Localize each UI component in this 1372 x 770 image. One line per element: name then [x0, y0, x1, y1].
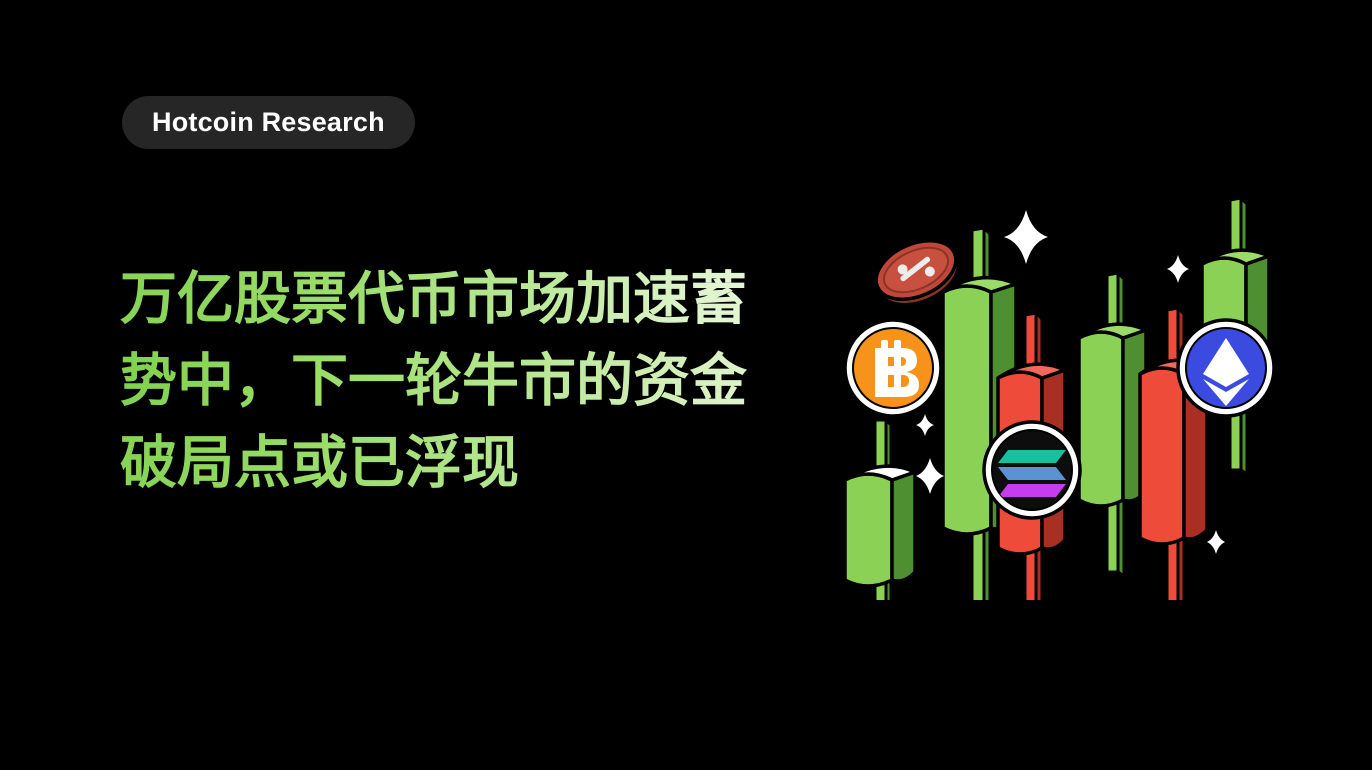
sparkle-small-right — [1167, 255, 1189, 283]
title-line-3: 破局点或已浮现 — [120, 422, 820, 504]
crypto-candlestick-illustration — [820, 180, 1290, 600]
page-title: 万亿股票代币市场加速蓄 势中，下一轮牛市的资金 破局点或已浮现 — [120, 258, 820, 504]
candle-1-up — [845, 420, 915, 600]
ethereum-coin-icon — [1178, 320, 1274, 416]
solana-coin-icon — [984, 422, 1080, 518]
brand-badge-label: Hotcoin Research — [152, 107, 385, 138]
title-line-2: 势中，下一轮牛市的资金 — [120, 340, 820, 422]
candle-4-up — [1079, 273, 1146, 576]
title-line-1: 万亿股票代币市场加速蓄 — [120, 258, 820, 340]
sparkle-large-top — [1004, 210, 1048, 264]
brand-badge: Hotcoin Research — [122, 96, 415, 149]
sparkle-tiny-mid — [916, 414, 934, 436]
bitcoin-coin-icon — [845, 320, 941, 416]
poster-canvas: Hotcoin Research 万亿股票代币市场加速蓄 势中，下一轮牛市的资金… — [0, 0, 1372, 770]
sparkle-medium-left — [916, 458, 944, 494]
sparkle-small-bottom — [1207, 530, 1225, 554]
